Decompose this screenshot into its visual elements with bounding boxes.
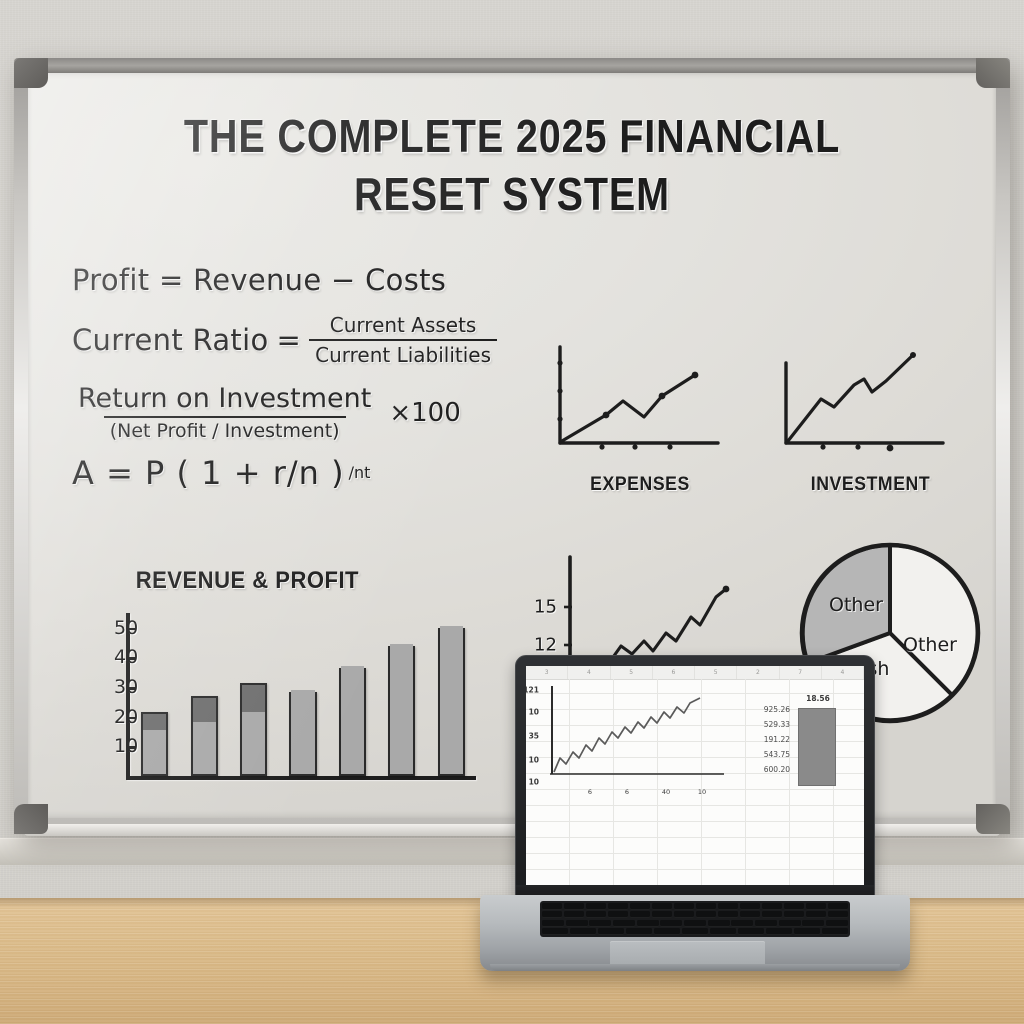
keyboard-key[interactable]	[586, 903, 606, 910]
table-row[interactable]	[240, 683, 267, 776]
formula-roi-denominator: (Net Profit / Investment)	[104, 416, 346, 442]
formula-roi-multiplier: ×100	[389, 398, 460, 428]
keyboard-key[interactable]	[738, 928, 764, 935]
formula-roi-fraction: Return on Investment (Net Profit / Inves…	[72, 383, 377, 442]
keyboard-key[interactable]	[630, 911, 650, 918]
keyboard-key[interactable]	[740, 903, 760, 910]
keyboard-key[interactable]	[794, 928, 820, 935]
chart-expenses[interactable]: EXPENSES	[540, 341, 740, 506]
frame-corner-top-left	[14, 58, 48, 88]
chart-revenue-profit[interactable]: REVENUE & PROFIT 1020304050	[68, 571, 468, 821]
investment-sparkline	[768, 341, 973, 471]
spreadsheet-column-header[interactable]: 3	[526, 666, 568, 679]
bar-chart-ytick-30: 30	[114, 676, 126, 698]
keyboard-key[interactable]	[589, 920, 611, 927]
keyboard-key[interactable]	[762, 911, 782, 918]
spreadsheet-column-header[interactable]: 7	[780, 666, 822, 679]
spreadsheet-cell[interactable]: 925.26	[741, 702, 793, 717]
spreadsheet-column-header[interactable]: 4	[568, 666, 610, 679]
spreadsheet-cell[interactable]: 529.33	[741, 717, 793, 732]
formula-compound-interest: A = P ( 1 + r/n ) /nt	[72, 452, 502, 492]
keyboard-key[interactable]	[740, 911, 760, 918]
keyboard-key[interactable]	[718, 903, 738, 910]
growth-chart-ytick-12: 12	[534, 635, 557, 656]
growth-chart-ytick-15: 15	[534, 597, 557, 618]
bar-chart-ytick-50: 50	[114, 617, 126, 639]
chart-revenue-profit-title: REVENUE & PROFIT	[136, 567, 359, 595]
spreadsheet-cell[interactable]: 191.22	[741, 732, 793, 747]
keyboard-key[interactable]	[608, 911, 628, 918]
keyboard-key[interactable]	[718, 911, 738, 918]
keyboard-key[interactable]	[542, 928, 568, 935]
keyboard-key[interactable]	[755, 920, 777, 927]
spreadsheet-column-header[interactable]: 6	[653, 666, 695, 679]
chart-expenses-label: EXPENSES	[547, 474, 733, 496]
keyboard-key[interactable]	[802, 920, 824, 927]
pie-slice-label-other-gray: Other	[829, 594, 883, 616]
keyboard-key[interactable]	[674, 911, 694, 918]
keyboard-key[interactable]	[652, 903, 672, 910]
keyboard-key[interactable]	[674, 903, 694, 910]
keyboard-key[interactable]	[566, 920, 588, 927]
keyboard-key[interactable]	[784, 911, 804, 918]
title-line-2: RESET SYSTEM	[130, 165, 894, 223]
spreadsheet-chart-ytick: 121	[526, 686, 539, 695]
keyboard-key[interactable]	[784, 903, 804, 910]
keyboard-key[interactable]	[684, 920, 706, 927]
spreadsheet-cell[interactable]: 600.20	[741, 762, 793, 777]
spreadsheet-chart-xtick: 40	[662, 788, 670, 796]
keyboard-key[interactable]	[652, 911, 672, 918]
bar-chart-bars[interactable]	[130, 613, 476, 776]
bar-chart-ytick-10: 10	[114, 735, 126, 757]
keyboard-key[interactable]	[806, 903, 826, 910]
page-title: THE COMPLETE 2025 FINANCIAL RESET SYSTEM	[96, 107, 928, 224]
spreadsheet-chart-xtick: 10	[698, 788, 706, 796]
chart-investment[interactable]: INVESTMENT	[768, 341, 973, 506]
formula-current-ratio-denominator: Current Liabilities	[309, 339, 497, 367]
keyboard-key[interactable]	[696, 911, 716, 918]
formula-profit: Profit = Revenue − Costs	[72, 263, 502, 297]
keyboard-key[interactable]	[822, 928, 848, 935]
laptop-keyboard[interactable]	[540, 901, 850, 937]
keyboard-key[interactable]	[570, 928, 596, 935]
bar-chart-ytick-20: 20	[114, 706, 126, 728]
spreadsheet-bar	[798, 708, 836, 786]
keyboard-key[interactable]	[660, 920, 682, 927]
laptop-base-lip	[490, 964, 900, 971]
formula-current-ratio: Current Ratio = Current Assets Current L…	[72, 313, 502, 367]
laptop-base	[480, 895, 910, 971]
laptop-lid: 34565274 12110351010 664010 925.26529.33…	[515, 655, 875, 903]
keyboard-key[interactable]	[828, 911, 848, 918]
bar-chart-x-axis	[126, 776, 476, 780]
table-row[interactable]	[339, 668, 366, 776]
keyboard-key[interactable]	[710, 928, 736, 935]
keyboard-row[interactable]	[542, 920, 848, 927]
pie-slice-label-other-white: Other	[903, 634, 957, 656]
table-row[interactable]	[388, 646, 415, 776]
formula-list: Profit = Revenue − Costs Current Ratio =…	[72, 263, 502, 508]
formula-current-ratio-fraction: Current Assets Current Liabilities	[309, 313, 497, 367]
expenses-sparkline	[540, 341, 740, 471]
title-line-1: THE COMPLETE 2025 FINANCIAL	[130, 107, 894, 165]
frame-corner-top-right	[976, 58, 1010, 88]
bar-segment-lower	[291, 690, 314, 774]
formula-current-ratio-numerator: Current Assets	[324, 313, 483, 339]
keyboard-key[interactable]	[766, 928, 792, 935]
spreadsheet-column-header[interactable]: 5	[611, 666, 653, 679]
keyboard-row[interactable]	[542, 928, 848, 935]
spreadsheet-chart-ytick: 35	[529, 732, 539, 741]
frame-corner-bottom-right	[976, 804, 1010, 834]
keyboard-row[interactable]	[542, 911, 848, 918]
formula-current-ratio-lhs: Current Ratio	[72, 323, 269, 357]
spreadsheet-chart-xtick: 6	[625, 788, 629, 796]
chart-investment-label: INVESTMENT	[775, 474, 966, 496]
formula-compound-exponent: /nt	[349, 463, 371, 482]
bar-segment-lower	[242, 712, 265, 774]
formula-current-ratio-equals: =	[277, 323, 302, 357]
spreadsheet-column-headers[interactable]: 34565274	[526, 666, 864, 680]
keyboard-key[interactable]	[626, 928, 652, 935]
keyboard-key[interactable]	[608, 903, 628, 910]
keyboard-key[interactable]	[806, 911, 826, 918]
keyboard-key[interactable]	[613, 920, 635, 927]
keyboard-key[interactable]	[828, 903, 848, 910]
spreadsheet-value-cells[interactable]: 925.26529.33191.22543.75600.20	[741, 702, 793, 777]
keyboard-key[interactable]	[542, 911, 562, 918]
formula-compound-base: A = P ( 1 + r/n )	[72, 454, 345, 492]
keyboard-key[interactable]	[826, 920, 848, 927]
keyboard-key[interactable]	[630, 903, 650, 910]
keyboard-key[interactable]	[564, 903, 584, 910]
keyboard-key[interactable]	[542, 903, 562, 910]
keyboard-key[interactable]	[696, 903, 716, 910]
laptop-screen[interactable]: 34565274 12110351010 664010 925.26529.33…	[526, 666, 864, 885]
keyboard-key[interactable]	[542, 920, 564, 927]
scene: THE COMPLETE 2025 FINANCIAL RESET SYSTEM…	[0, 0, 1024, 1024]
bar-segment-lower	[390, 644, 413, 774]
table-row[interactable]	[191, 696, 218, 776]
table-row[interactable]	[141, 712, 168, 776]
bar-segment-lower	[193, 722, 216, 774]
table-row[interactable]	[289, 692, 316, 776]
laptop[interactable]: 34565274 12110351010 664010 925.26529.33…	[480, 655, 910, 985]
keyboard-key[interactable]	[762, 903, 782, 910]
bar-chart-ytick-40: 40	[114, 646, 126, 668]
spreadsheet-chart-ytick: 10	[529, 778, 539, 787]
keyboard-key[interactable]	[654, 928, 680, 935]
frame-corner-bottom-left	[14, 804, 48, 834]
keyboard-key[interactable]	[564, 911, 584, 918]
laptop-trackpad[interactable]	[610, 941, 765, 966]
spreadsheet-chart-ytick: 10	[529, 708, 539, 717]
keyboard-key[interactable]	[708, 920, 730, 927]
keyboard-key[interactable]	[637, 920, 659, 927]
keyboard-key[interactable]	[779, 920, 801, 927]
spreadsheet-chart-svg	[542, 686, 732, 786]
spreadsheet-chart-ytick: 10	[529, 756, 539, 765]
spreadsheet-chart-xtick: 6	[588, 788, 592, 796]
spreadsheet-cell[interactable]: 543.75	[741, 747, 793, 762]
formula-profit-text: Profit = Revenue − Costs	[72, 263, 446, 297]
bar-segment-lower	[341, 666, 364, 774]
bar-segment-lower	[143, 730, 166, 774]
bar-segment-lower	[440, 626, 463, 774]
keyboard-row[interactable]	[542, 903, 848, 910]
formula-roi: Return on Investment (Net Profit / Inves…	[72, 383, 502, 442]
spreadsheet-column-header[interactable]: 5	[695, 666, 737, 679]
spreadsheet-column-header[interactable]: 4	[822, 666, 864, 679]
keyboard-key[interactable]	[682, 928, 708, 935]
keyboard-key[interactable]	[586, 911, 606, 918]
keyboard-key[interactable]	[598, 928, 624, 935]
spreadsheet-line-chart[interactable]: 12110351010 664010	[542, 686, 732, 786]
spreadsheet-column-header[interactable]: 2	[737, 666, 779, 679]
spreadsheet-bar-data-label: 18.56	[798, 694, 838, 703]
formula-roi-numerator: Return on Investment	[72, 383, 377, 416]
spreadsheet-app[interactable]: 34565274 12110351010 664010 925.26529.33…	[526, 666, 864, 885]
table-row[interactable]	[438, 628, 465, 776]
keyboard-key[interactable]	[731, 920, 753, 927]
